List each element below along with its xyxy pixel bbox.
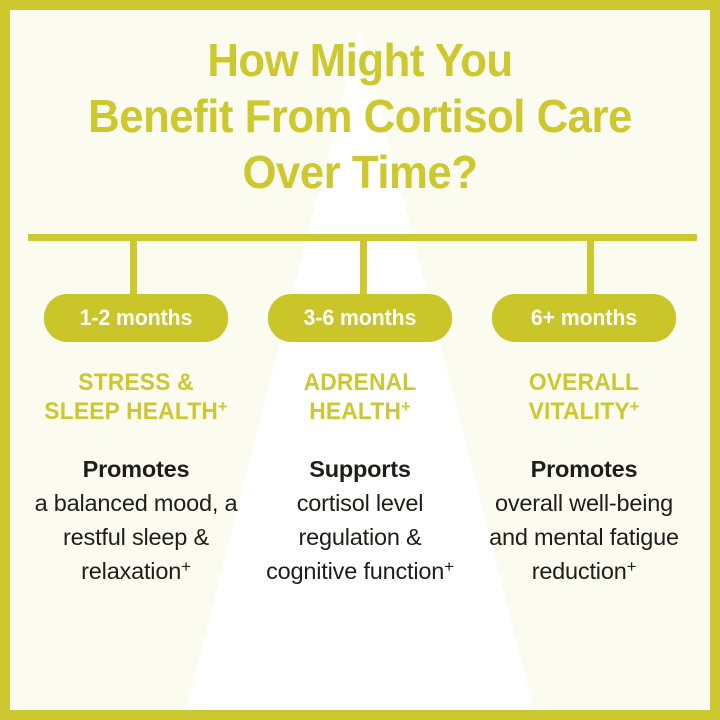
- benefit-heading-3: OVERALL VITALITY+: [481, 368, 686, 426]
- benefit-body-1-lead: Promotes: [28, 452, 244, 486]
- benefit-columns: 1-2 months STRESS & SLEEP HEALTH+ Promot…: [10, 294, 710, 588]
- benefit-body-3-lead: Promotes: [476, 452, 692, 486]
- benefit-body-2: Supportscortisol level regulation & cogn…: [252, 452, 468, 588]
- timeframe-pill-3[interactable]: 6+ months: [492, 294, 676, 342]
- benefit-column-1: 1-2 months STRESS & SLEEP HEALTH+ Promot…: [28, 294, 244, 588]
- benefit-body-3-text: overall well-being and mental fatigue re…: [489, 490, 679, 584]
- title-line-2: Benefit From Cortisol Care: [28, 88, 693, 144]
- title-line-1: How Might You: [28, 32, 693, 88]
- benefit-heading-1-line-2: SLEEP HEALTH: [44, 398, 218, 425]
- benefit-heading-1-line-1: STRESS &: [33, 368, 238, 397]
- benefit-heading-3-line-2: VITALITY: [529, 398, 630, 425]
- title-line-3: Over Time?: [28, 144, 693, 200]
- timeframe-pill-2[interactable]: 3-6 months: [268, 294, 452, 342]
- benefit-body-2-text: cortisol level regulation & cognitive fu…: [266, 490, 444, 584]
- benefit-heading-2-dagger-icon: +: [401, 397, 411, 416]
- benefit-body-1: Promotesa balanced mood, a restful sleep…: [28, 452, 244, 588]
- content-area: How Might You Benefit From Cortisol Care…: [10, 10, 710, 710]
- benefit-heading-3-dagger-icon: +: [630, 397, 640, 416]
- timeframe-pill-1[interactable]: 1-2 months: [44, 294, 228, 342]
- benefit-body-2-lead: Supports: [252, 452, 468, 486]
- benefit-body-3: Promotesoverall well-being and mental fa…: [476, 452, 692, 588]
- page-title: How Might You Benefit From Cortisol Care…: [10, 32, 710, 200]
- benefit-body-1-dagger-icon: +: [181, 557, 191, 576]
- benefit-heading-2: ADRENAL HEALTH+: [257, 368, 462, 426]
- benefit-heading-3-line-1: OVERALL: [481, 368, 686, 397]
- benefit-column-3: 6+ months OVERALL VITALITY+ Promotesover…: [476, 294, 692, 588]
- benefit-heading-2-line-1: ADRENAL: [257, 368, 462, 397]
- benefit-heading-3-line-2-wrap: VITALITY+: [481, 397, 686, 426]
- infographic-page: How Might You Benefit From Cortisol Care…: [0, 0, 720, 720]
- benefit-body-1-text: a balanced mood, a restful sleep & relax…: [35, 490, 238, 584]
- benefit-column-2: 3-6 months ADRENAL HEALTH+ Supportscorti…: [252, 294, 468, 588]
- benefit-heading-2-line-2: HEALTH: [309, 398, 401, 425]
- benefit-heading-1: STRESS & SLEEP HEALTH+: [33, 368, 238, 426]
- benefit-heading-1-line-2-wrap: SLEEP HEALTH+: [33, 397, 238, 426]
- benefit-heading-2-line-2-wrap: HEALTH+: [257, 397, 462, 426]
- benefit-heading-1-dagger-icon: +: [218, 397, 228, 416]
- benefit-body-2-dagger-icon: +: [444, 557, 454, 576]
- benefit-body-3-dagger-icon: +: [627, 557, 637, 576]
